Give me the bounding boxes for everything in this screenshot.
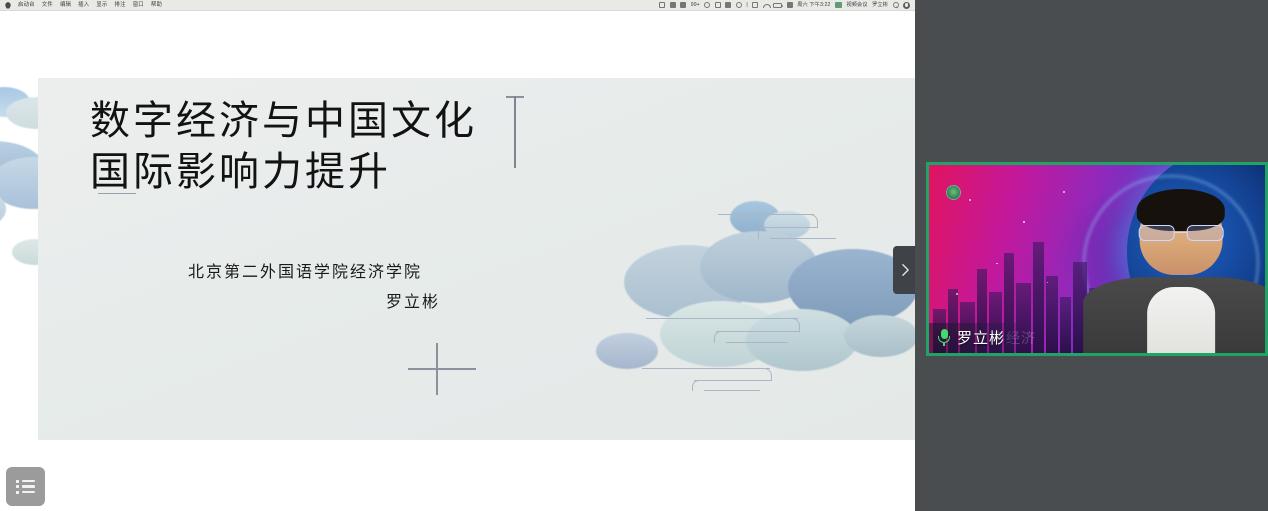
- participant-name-label: 罗立彬: [929, 323, 1017, 353]
- microphone-icon[interactable]: [937, 329, 951, 347]
- menu-item-view[interactable]: 显示: [96, 0, 107, 11]
- shared-screen-window: 启动台 文件 编辑 插入 显示 排注 窗口 帮助 99+ |: [0, 0, 915, 511]
- display-icon[interactable]: [725, 2, 731, 8]
- slide-canvas-area[interactable]: 数字经济与中国文化 国际影响力提升 北京第二外国语学院经济学院 罗立彬: [0, 11, 915, 511]
- macos-menu-bar: 启动台 文件 编辑 插入 显示 排注 窗口 帮助 99+ |: [0, 0, 915, 11]
- list-view-icon: [16, 480, 35, 494]
- watermark-badge-icon: [946, 185, 961, 200]
- battery-icon[interactable]: [773, 3, 782, 8]
- xiangyun-motif-bottom: [642, 368, 782, 408]
- text-cursor-caret: [514, 96, 516, 168]
- star-dot: [1063, 191, 1065, 193]
- menu-item-edit[interactable]: 编辑: [60, 0, 71, 11]
- slide-subtitle[interactable]: 北京第二外国语学院经济学院: [188, 256, 422, 287]
- xiangyun-motif-top: [718, 214, 848, 248]
- glasses-shape: [1139, 225, 1224, 242]
- shirt-shape: [1147, 287, 1215, 353]
- bluetooth-icon[interactable]: [704, 2, 710, 8]
- screenshot-icon[interactable]: [715, 2, 721, 8]
- chevron-right-icon: [900, 263, 911, 277]
- menu-item-file[interactable]: 文件: [42, 0, 53, 11]
- sound-icon[interactable]: [680, 2, 686, 8]
- zoom-level-icon[interactable]: 99+: [691, 0, 700, 11]
- record-icon[interactable]: [736, 2, 742, 8]
- volume-icon[interactable]: [787, 2, 793, 8]
- star-dot: [969, 199, 971, 201]
- star-dot: [1047, 282, 1049, 284]
- menu-bar-app-label[interactable]: 视频会议: [846, 0, 867, 11]
- cloud-shape: [0, 87, 30, 117]
- menu-item-launchpad[interactable]: 启动台: [18, 0, 35, 11]
- screen-share-icon[interactable]: [659, 2, 665, 8]
- star-dot: [1023, 221, 1025, 223]
- menu-bar-status-group: 99+ | 周六 下午3:22 视频会议 罗立彬: [659, 0, 915, 11]
- separator-icon: |: [746, 0, 747, 11]
- menu-item-help[interactable]: 帮助: [151, 0, 162, 11]
- airplay-icon[interactable]: [670, 2, 676, 8]
- search-icon[interactable]: [893, 2, 899, 8]
- cloud-shape: [624, 245, 752, 319]
- menu-item-window[interactable]: 窗口: [133, 0, 144, 11]
- menu-bar-user-label[interactable]: 罗立彬: [872, 0, 888, 11]
- menu-item-insert[interactable]: 插入: [78, 0, 89, 11]
- slide-navigator-button[interactable]: [6, 467, 45, 506]
- slide-presenter-name[interactable]: 罗立彬: [386, 288, 440, 312]
- participant-name: 罗立彬: [957, 327, 1005, 348]
- cloud-shape: [0, 187, 6, 231]
- screen-root: 启动台 文件 编辑 插入 显示 排注 窗口 帮助 99+ |: [0, 0, 1268, 511]
- video-participant-panel[interactable]: 字经济 罗立彬: [926, 162, 1268, 356]
- keyboard-icon[interactable]: [752, 2, 758, 8]
- apple-logo-icon[interactable]: [5, 2, 11, 9]
- panel-toggle-button[interactable]: [893, 246, 915, 294]
- menu-bar-clock[interactable]: 周六 下午3:22: [797, 0, 830, 11]
- video-feed: 字经济 罗立彬: [929, 165, 1265, 353]
- alignment-guide-horizontal: [408, 368, 476, 370]
- menu-bar-left-group: 启动台 文件 编辑 插入 显示 排注 窗口 帮助: [0, 0, 162, 11]
- control-center-icon[interactable]: [903, 2, 910, 9]
- text-underline-mark: [98, 193, 136, 194]
- meeting-app-icon[interactable]: [835, 2, 842, 8]
- presentation-slide[interactable]: 数字经济与中国文化 国际影响力提升 北京第二外国语学院经济学院 罗立彬: [38, 78, 915, 440]
- cloud-shape: [844, 315, 915, 357]
- menu-item-arrange[interactable]: 排注: [115, 0, 126, 11]
- star-dot: [956, 293, 958, 295]
- participant-video-figure: [1087, 188, 1265, 353]
- slide-title[interactable]: 数字经济与中国文化 国际影响力提升: [90, 96, 477, 198]
- wifi-icon[interactable]: [763, 2, 769, 8]
